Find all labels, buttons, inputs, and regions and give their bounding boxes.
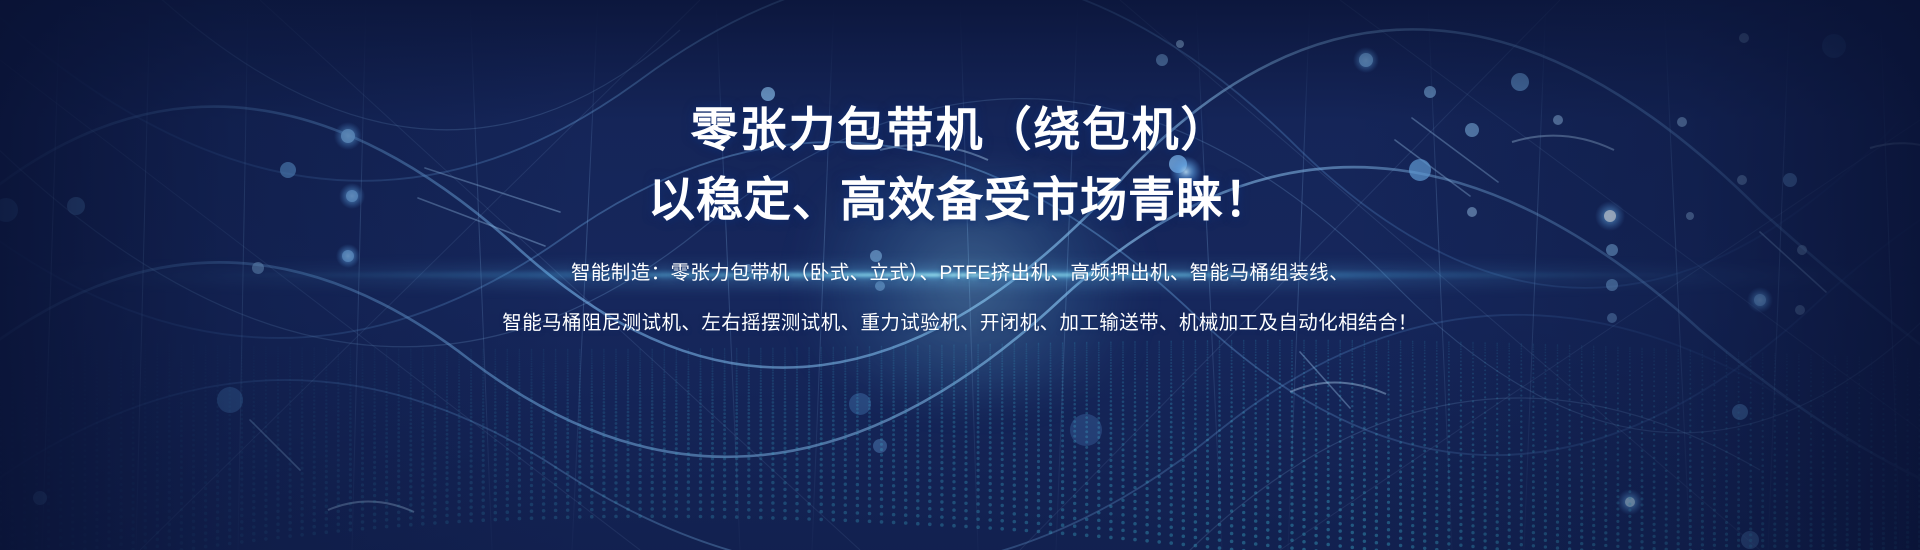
subtitle-line-2: 智能马桶阻尼测试机、左右摇摆测试机、重力试验机、开闭机、加工输送带、机械加工及自…	[502, 308, 1417, 338]
subtitle-line-1: 智能制造：零张力包带机（卧式、立式）、PTFE挤出机、高频押出机、智能马桶组装线…	[571, 258, 1349, 288]
headline-line-2: 以稳定、高效备受市场青睐！	[648, 168, 1272, 232]
banner-content: 零张力包带机（绕包机） 以稳定、高效备受市场青睐！ 智能制造：零张力包带机（卧式…	[0, 0, 1920, 550]
headline-line-1: 零张力包带机（绕包机）	[691, 98, 1230, 162]
promo-banner: 零张力包带机（绕包机） 以稳定、高效备受市场青睐！ 智能制造：零张力包带机（卧式…	[0, 0, 1920, 550]
